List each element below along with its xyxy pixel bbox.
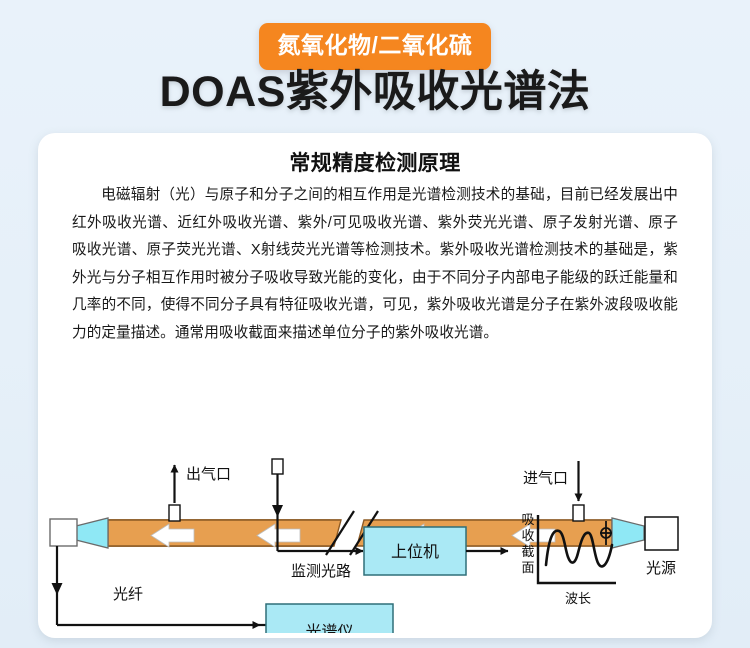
section-paragraph: 电磁辐射（光）与原子和分子之间的相互作用是光谱检测技术的基础，目前已经发展出中红…: [72, 182, 678, 347]
chart-ylabel-char-0: 吸: [521, 512, 534, 527]
badge-container: 氮氧化物/二氧化硫: [0, 23, 750, 70]
spectrometer-output-port: [272, 459, 283, 474]
chart-axes: [538, 515, 616, 583]
chart-xlabel: 波长: [565, 591, 591, 606]
signal-route: [278, 474, 364, 551]
chart-ylabel-char-1: 收: [521, 528, 534, 543]
signal-direction-arrow: [272, 505, 283, 517]
spectrometer-label: 光谱仪: [305, 623, 353, 633]
chart-curve: [546, 531, 612, 567]
host-computer-label: 上位机: [391, 543, 439, 561]
absorption-spectrum-chart: 吸 收 截 面 波长: [521, 512, 616, 606]
chart-ylabel-char-3: 面: [521, 560, 534, 575]
category-badge: 氮氧化物/二氧化硫: [259, 23, 492, 70]
content-card: 常规精度检测原理 电磁辐射（光）与原子和分子之间的相互作用是光谱检测技术的基础，…: [38, 133, 712, 638]
page-root: 氮氧化物/二氧化硫 DOAS紫外吸收光谱法 常规精度检测原理 电磁辐射（光）与原…: [0, 0, 750, 648]
principle-diagram-lower: 上位机 吸 收 截 面 波长: [38, 453, 712, 613]
chart-ylabel-char-2: 截: [521, 544, 534, 559]
section-title: 常规精度检测原理: [38, 147, 712, 177]
page-title: DOAS紫外吸收光谱法: [0, 68, 750, 117]
host-computer-node: 上位机: [364, 527, 466, 575]
